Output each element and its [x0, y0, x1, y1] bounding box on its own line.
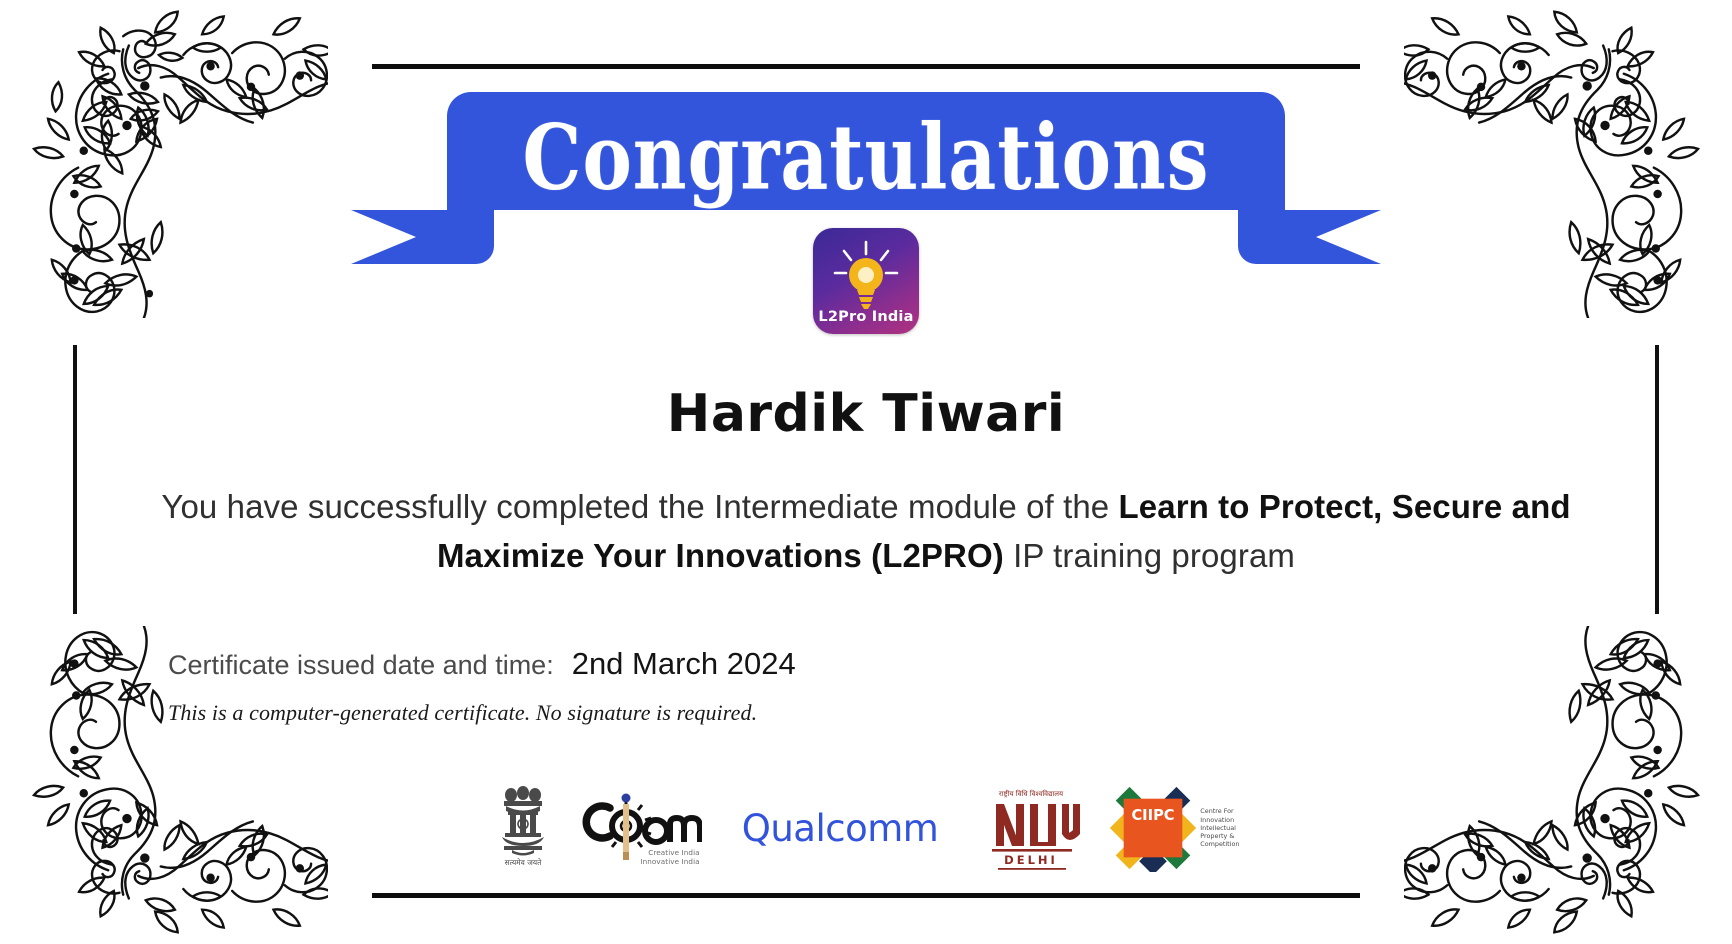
computer-generated-disclaimer: This is a computer-generated certificate… [168, 700, 757, 726]
l2pro-logo-container: L2Pro India [0, 228, 1732, 334]
issued-date-label: Certificate issued date and time: [168, 650, 554, 681]
border-rule-bottom [372, 893, 1360, 898]
qualcomm-logo: Qualcomm [742, 807, 939, 850]
ciipc-tagline: Centre For Innovation Intellectual Prope… [1200, 807, 1240, 848]
banner-title: Congratulations [351, 93, 1381, 222]
ashoka-emblem-motto: सत्यमेव जयते [504, 858, 542, 867]
issued-date-row: Certificate issued date and time: 2nd Ma… [168, 646, 796, 682]
cipam-tagline-line2: Innovative India [640, 857, 699, 866]
cipam-tagline-line1: Creative India [640, 848, 699, 857]
certificate-body-text: You have successfully completed the Inte… [130, 482, 1602, 580]
recipient-name: Hardik Tiwari [0, 384, 1732, 444]
body-trail-text: IP training program [1004, 537, 1295, 574]
issued-date-value: 2nd March 2024 [572, 646, 796, 682]
ciipc-logo: CIIPC Centre For Innovation Intellectual… [1110, 782, 1240, 874]
nlu-delhi-logo: राष्ट्रीय विधि विश्वविद्यालय DELHI [978, 782, 1084, 874]
nlu-delhi-sublabel: DELHI [1004, 853, 1058, 867]
l2pro-india-logo: L2Pro India [813, 228, 919, 334]
l2pro-logo-label: L2Pro India [813, 309, 919, 325]
footer-logo-strip: सत्यमेव जयते [0, 780, 1732, 876]
nlu-hindi-script: राष्ट्रीय विधि विश्वविद्यालय [999, 789, 1064, 798]
border-rule-top [372, 64, 1360, 69]
body-lead-text: You have successfully completed the Inte… [161, 488, 1118, 525]
cipam-tagline: Creative India Innovative India [640, 848, 699, 866]
cipam-logo: Creative India Innovative India [580, 786, 702, 870]
ciipc-wordmark: CIIPC [1132, 807, 1175, 824]
ashoka-emblem-logo: सत्यमेव जयते [492, 782, 554, 874]
certificate-canvas: Congratulations L2Pro India [0, 0, 1732, 944]
